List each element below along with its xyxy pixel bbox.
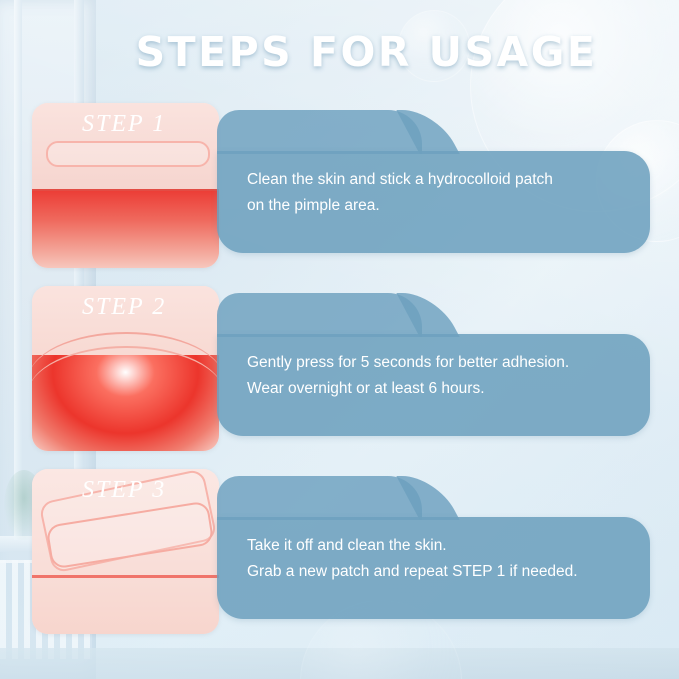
skin-divider-line [32,189,219,191]
step-2-line-1: Gently press for 5 seconds for better ad… [247,350,630,376]
step-1-tab [217,110,422,154]
hydrocolloid-patch-outline [46,141,210,167]
step-1-text: Clean the skin and stick a hydrocolloid … [247,167,630,219]
step-1-line-1: Clean the skin and stick a hydrocolloid … [247,167,630,193]
step-2-line-2: Wear overnight or at least 6 hours. [247,376,630,402]
step-3-label: STEP 3 [82,477,166,504]
step-3-text: Take it off and clean the skin. Grab a n… [247,533,630,585]
inflamed-skin-layer [32,189,219,268]
page-title: STEPS FOR USAGE [0,28,679,76]
usage-steps-infographic: STEPS FOR USAGE STEP 1 Clean the skin an… [0,0,679,679]
step-3-tab [217,476,422,520]
step-1-text-panel: Clean the skin and stick a hydrocolloid … [217,151,650,253]
step-block-2: STEP 2 Gently press for 5 seconds for be… [32,286,650,451]
step-1-label: STEP 1 [82,111,166,138]
step-2-label: STEP 2 [82,294,166,321]
step-3-text-panel: Take it off and clean the skin. Grab a n… [217,517,650,619]
step-1-line-2: on the pimple area. [247,193,630,219]
skin-divider-line [32,575,219,578]
step-2-tab [217,293,422,337]
step-3-line-1: Take it off and clean the skin. [247,533,630,559]
step-2-text: Gently press for 5 seconds for better ad… [247,350,630,402]
step-3-line-2: Grab a new patch and repeat STEP 1 if ne… [247,559,630,585]
step-block-1: STEP 1 Clean the skin and stick a hydroc… [32,103,650,268]
step-2-text-panel: Gently press for 5 seconds for better ad… [217,334,650,436]
step-block-3: STEP 3 Take it off and clean the skin. G… [32,469,650,634]
